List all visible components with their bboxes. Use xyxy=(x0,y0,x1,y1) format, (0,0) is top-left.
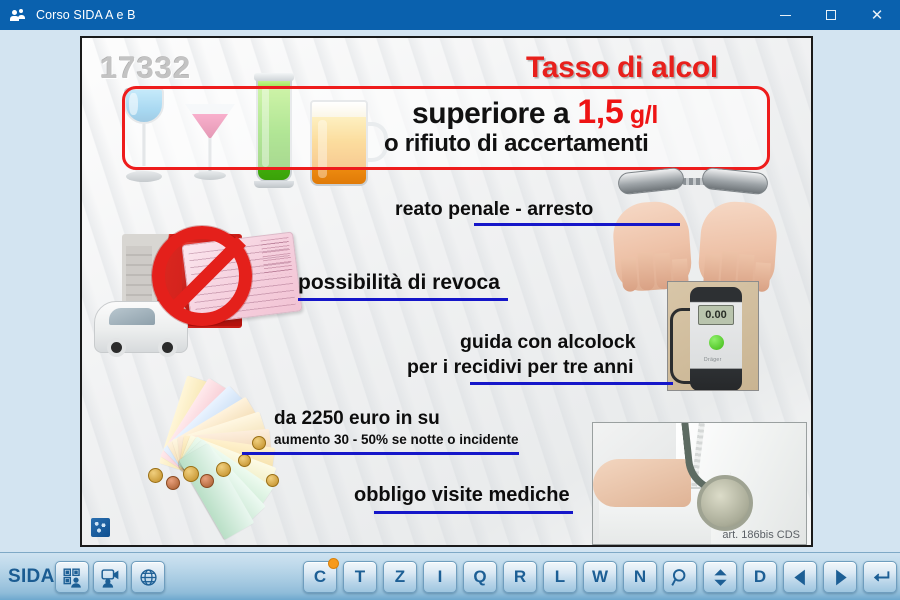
video-person-icon[interactable] xyxy=(93,561,127,593)
window-controls: ✕ xyxy=(762,0,900,30)
enter-return-icon[interactable] xyxy=(863,561,897,593)
label-possibilita-revoca: possibilità di revoca xyxy=(298,271,500,295)
button-w-label: W xyxy=(592,567,608,587)
breathalyzer-brand: Dräger xyxy=(704,357,722,363)
stethoscope-lab-coat-image: art. 186bis CDS xyxy=(592,422,807,545)
close-button[interactable]: ✕ xyxy=(854,0,900,30)
prohibition-sign-icon xyxy=(152,226,252,326)
breathalyzer-device-image: 0.00 Dräger xyxy=(667,281,759,391)
button-r[interactable]: R xyxy=(503,561,537,593)
sida-brand-label: SIDA xyxy=(8,566,55,588)
button-d-label: D xyxy=(754,567,766,587)
updown-arrows-icon[interactable] xyxy=(703,561,737,593)
button-d[interactable]: D xyxy=(743,561,777,593)
truck-car-license-prohibition-image xyxy=(90,220,300,355)
app-body: 17332 Tasso di alcol superiore a 1,5 g/l… xyxy=(0,30,900,552)
euro-banknotes-coins-image xyxy=(120,380,296,490)
slide-corner-logo xyxy=(91,518,110,537)
button-z-label: Z xyxy=(395,567,405,587)
notification-badge xyxy=(328,558,339,569)
button-r-label: R xyxy=(514,567,526,587)
underline-euro xyxy=(242,452,519,455)
search-icon[interactable] xyxy=(663,561,697,593)
button-c-label: C xyxy=(314,567,326,587)
label-obbligo-visite-mediche: obbligo visite mediche xyxy=(354,484,570,507)
button-n-label: N xyxy=(634,567,646,587)
bottom-toolbar: SIDA C T Z xyxy=(0,552,900,600)
headline-prefix: superiore a xyxy=(412,97,577,130)
slide-headline-title: Tasso di alcol xyxy=(452,51,792,85)
button-z[interactable]: Z xyxy=(383,561,417,593)
label-aumento-notte-incidente: aumento 30 - 50% se notte o incidente xyxy=(274,432,519,447)
button-n[interactable]: N xyxy=(623,561,657,593)
lesson-slide[interactable]: 17332 Tasso di alcol superiore a 1,5 g/l… xyxy=(80,36,813,547)
people-icon xyxy=(11,7,27,23)
handcuffed-hands-image xyxy=(600,168,805,290)
button-q[interactable]: Q xyxy=(463,561,497,593)
button-i-label: I xyxy=(438,567,443,587)
source-credit: art. 186bis CDS xyxy=(722,529,800,541)
headline-limit-line: superiore a 1,5 g/l xyxy=(412,93,782,132)
qr-person-icon[interactable] xyxy=(55,561,89,593)
button-t[interactable]: T xyxy=(343,561,377,593)
label-guida-alcolock: guida con alcolock xyxy=(460,331,636,354)
power-button-icon xyxy=(709,335,724,350)
button-w[interactable]: W xyxy=(583,561,617,593)
button-c[interactable]: C xyxy=(303,561,337,593)
label-recidivi-tre-anni: per i recidivi per tre anni xyxy=(407,356,634,379)
underline-visite-mediche xyxy=(374,511,573,514)
underline-possibilita-revoca xyxy=(298,298,508,301)
button-q-label: Q xyxy=(473,567,486,587)
underline-alcolock xyxy=(470,382,673,385)
previous-arrow-icon[interactable] xyxy=(783,561,817,593)
breathalyzer-reading: 0.00 xyxy=(698,305,734,325)
minimize-button[interactable] xyxy=(762,0,808,30)
globe-icon[interactable] xyxy=(131,561,165,593)
next-arrow-icon[interactable] xyxy=(823,561,857,593)
window-title: Corso SIDA A e B xyxy=(36,8,136,22)
label-da-2250-euro: da 2250 euro in su xyxy=(274,408,440,430)
underline-reato-penale xyxy=(474,223,680,226)
button-i[interactable]: I xyxy=(423,561,457,593)
window-title-bar: Corso SIDA A e B ✕ xyxy=(0,0,900,30)
headline-unit: g/l xyxy=(623,101,658,129)
button-l-label: L xyxy=(555,567,565,587)
button-l[interactable]: L xyxy=(543,561,577,593)
maximize-button[interactable] xyxy=(808,0,854,30)
label-reato-penale: reato penale - arresto xyxy=(395,198,593,221)
headline-refusal-line: o rifiuto di accertamenti xyxy=(384,130,784,158)
headline-value: 1,5 xyxy=(577,93,623,131)
button-t-label: T xyxy=(355,567,365,587)
